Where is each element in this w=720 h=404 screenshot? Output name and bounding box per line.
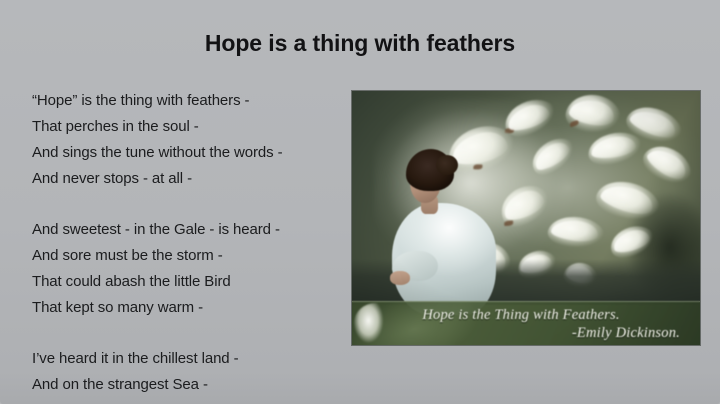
poem-line: And sore must be the storm -	[32, 243, 337, 269]
poem-line: And on the strangest Sea -	[32, 372, 337, 398]
poem-line: That kept so many warm -	[32, 295, 337, 321]
image-caption-band: Hope is the Thing with Feathers. -Emily …	[352, 301, 700, 345]
poem-stanza: I’ve heard it in the chillest land - And…	[32, 346, 337, 404]
poem-stanza: “Hope” is the thing with feathers - That…	[32, 88, 337, 192]
poem-body: “Hope” is the thing with feathers - That…	[32, 88, 337, 404]
poem-line: “Hope” is the thing with feathers -	[32, 88, 337, 114]
slide-canvas: Hope is a thing with feathers “Hope” is …	[0, 0, 720, 404]
poem-stanza: And sweetest - in the Gale - is heard - …	[32, 217, 337, 321]
poem-line: And never stops - at all -	[32, 166, 337, 192]
poem-line: And sings the tune without the words -	[32, 140, 337, 166]
image-caption-attribution: -Emily Dickinson.	[572, 324, 680, 343]
poem-line: That could abash the little Bird	[32, 269, 337, 295]
poem-line: Yet - never - in Extremity,	[32, 398, 337, 404]
poem-line: And sweetest - in the Gale - is heard -	[32, 217, 337, 243]
image-caption-text: Hope is the Thing with Feathers.	[352, 306, 690, 325]
poem-illustration-image: Hope is the Thing with Feathers. -Emily …	[352, 91, 700, 345]
poem-line: That perches in the soul -	[32, 114, 337, 140]
page-title: Hope is a thing with feathers	[0, 28, 720, 58]
poem-line: I’ve heard it in the chillest land -	[32, 346, 337, 372]
